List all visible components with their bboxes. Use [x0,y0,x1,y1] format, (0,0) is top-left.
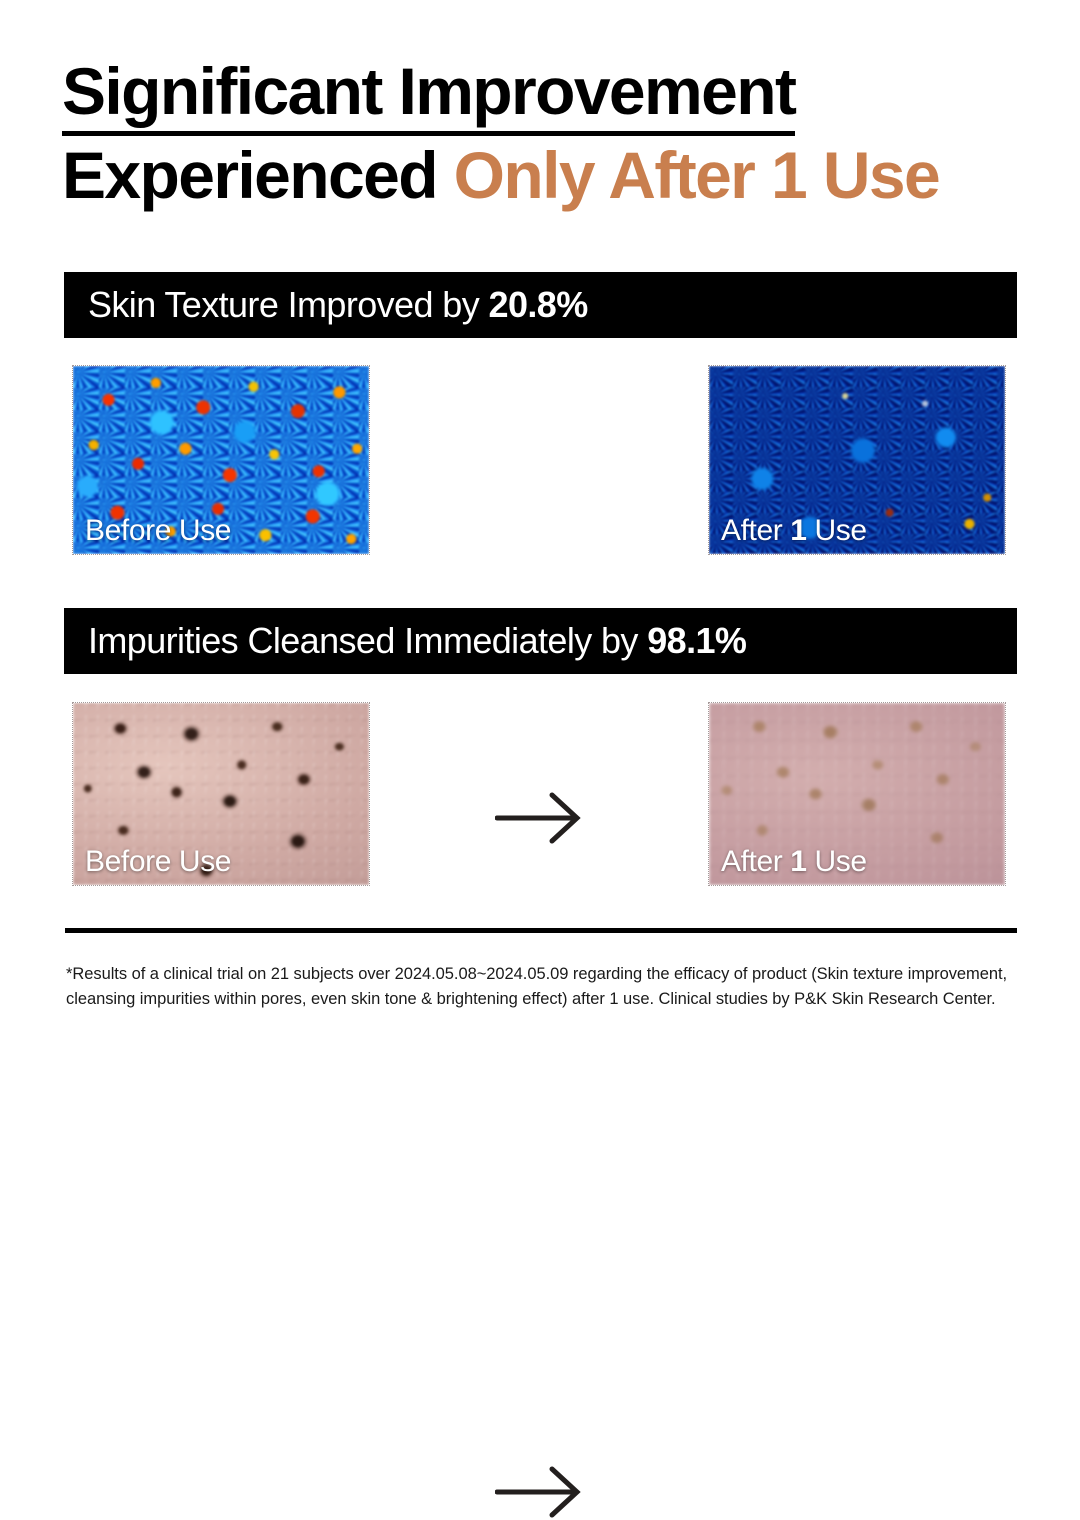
after-caption-prefix: After [721,845,790,878]
stat-banner-text: Impurities Cleansed Immediately by 98.1% [64,621,746,661]
page-title: Significant Improvement Experienced Only… [62,52,1042,214]
stat-banner-impurities: Impurities Cleansed Immediately by 98.1% [64,608,1017,674]
before-caption: Before Use [85,845,231,879]
headline-plain-text: Experienced [62,138,454,212]
stat-banner-skin-texture: Skin Texture Improved by 20.8% [64,272,1017,338]
arrow-right-icon [495,1464,585,1520]
infographic-page: Significant Improvement Experienced Only… [0,0,1080,1080]
stat-percent: 20.8% [489,284,588,325]
comparison-row-skin-texture: Before Use After 1 Use [0,365,1080,555]
headline-accent-text: Only After 1 Use [454,138,939,212]
before-caption: Before Use [85,514,231,548]
comparison-row-impurities: Before Use After 1 Use [0,702,1080,886]
after-caption-prefix: After [721,514,790,547]
after-caption: After 1 Use [721,845,867,879]
after-caption-count: 1 [790,845,806,878]
before-image-skin-texture: Before Use [72,365,370,555]
headline-line-2: Experienced Only After 1 Use [62,136,1042,214]
footer-divider [65,928,1017,933]
stat-label: Skin Texture Improved by [88,284,489,325]
stat-banner-text: Skin Texture Improved by 20.8% [64,285,588,325]
headline-underlined-text: Significant Improvement [62,52,795,136]
after-image-impurities: After 1 Use [708,702,1006,886]
headline-line-1: Significant Improvement [62,52,1042,136]
after-caption-count: 1 [790,514,806,547]
after-caption-suffix: Use [807,514,867,547]
after-caption: After 1 Use [721,514,867,548]
after-caption-suffix: Use [807,845,867,878]
after-image-skin-texture: After 1 Use [708,365,1006,555]
before-image-impurities: Before Use [72,702,370,886]
footnote-disclaimer: *Results of a clinical trial on 21 subje… [66,962,1026,1012]
stat-percent: 98.1% [647,620,746,661]
stat-label: Impurities Cleansed Immediately by [88,620,647,661]
